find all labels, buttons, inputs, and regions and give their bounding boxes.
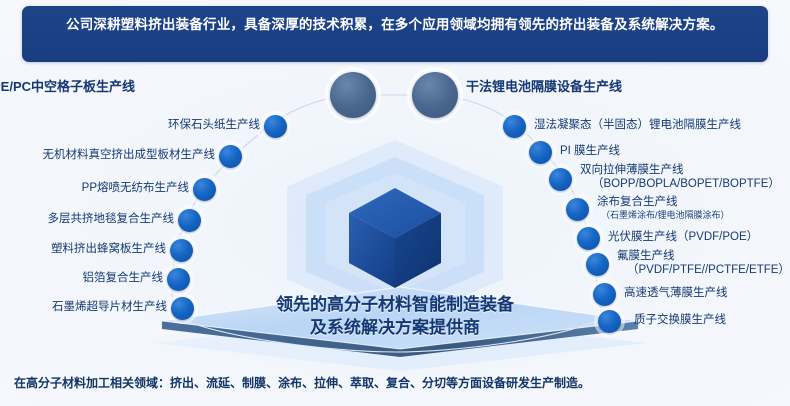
left-node-1[interactable] <box>219 145 242 168</box>
left-node-6[interactable] <box>171 297 194 320</box>
right-label-3: 涂布复合生产线 （石墨烯涂布/锂电池隔膜涂布） <box>597 196 790 221</box>
right-node-1[interactable] <box>529 141 552 164</box>
right-branch-heading: 干法锂电池隔膜设备生产线 <box>466 80 766 94</box>
right-label-1: PI 膜生产线 <box>560 145 790 159</box>
footer-text: 在高分子材料加工相关领域：挤出、流延、制膜、涂布、拉伸、萃取、复合、分切等方面设… <box>14 374 784 392</box>
right-label-6: 高速透气薄膜生产线 <box>624 287 790 301</box>
left-label-6: 石墨烯超导片材生产线 <box>0 301 167 315</box>
right-node-4[interactable] <box>577 227 600 250</box>
left-label-0: 环保石头纸生产线 <box>0 119 260 133</box>
left-node-3[interactable] <box>178 209 201 232</box>
right-node-6[interactable] <box>593 283 616 306</box>
center-title: 领先的高分子材料智能制造装备 及系统解决方案提供商 <box>195 293 595 339</box>
left-label-4: 塑料挤出蜂窝板生产线 <box>0 243 166 257</box>
center-title-line2: 及系统解决方案提供商 <box>310 318 480 337</box>
left-node-4[interactable] <box>170 239 193 262</box>
right-branch-hub-node[interactable] <box>412 72 458 118</box>
right-label-5: 氟膜生产线 （PVDF/PTFE//PCTFE/ETFE） <box>617 250 790 277</box>
left-label-5: 铝箔复合生产线 <box>0 272 163 286</box>
right-label-2-line2: （BOPP/BOPLA/BOPET/BOPTFE） <box>580 178 790 192</box>
left-label-1: 无机材料真空挤出成型板材生产线 <box>0 149 215 163</box>
right-label-3-line1: 涂布复合生产线 <box>597 196 678 208</box>
right-label-5-line1: 氟膜生产线 <box>617 250 675 262</box>
right-label-2: 双向拉伸薄膜生产线 （BOPP/BOPLA/BOPET/BOPTFE） <box>580 164 790 191</box>
left-branch-heading: PP/PE/PC中空格子板生产线 <box>0 80 135 94</box>
left-node-2[interactable] <box>193 178 216 201</box>
right-node-0[interactable] <box>503 115 526 138</box>
right-node-5[interactable] <box>586 253 609 276</box>
right-label-2-line1: 双向拉伸薄膜生产线 <box>580 164 684 176</box>
right-label-3-sub: （石墨烯涂布/锂电池隔膜涂布） <box>597 210 790 221</box>
left-branch-hub-node[interactable] <box>330 72 376 118</box>
right-label-7: 质子交换膜生产线 <box>634 314 790 328</box>
left-label-3: 多层共挤地毯复合生产线 <box>0 213 174 227</box>
right-label-5-line2: （PVDF/PTFE//PCTFE/ETFE） <box>617 264 790 278</box>
left-node-0[interactable] <box>264 115 287 138</box>
right-label-0: 湿法凝聚态（半固态）锂电池隔膜生产线 <box>534 119 790 133</box>
right-node-7[interactable] <box>598 310 621 333</box>
right-label-4: 光伏膜生产线（PVDF/POE） <box>608 231 790 245</box>
right-node-3[interactable] <box>566 198 589 221</box>
center-title-line1: 领先的高分子材料智能制造装备 <box>276 295 514 314</box>
right-node-2[interactable] <box>549 168 572 191</box>
left-node-5[interactable] <box>167 268 190 291</box>
left-label-2: PP熔喷无纺布生产线 <box>0 182 189 196</box>
infographic-canvas: 公司深耕塑料挤出装备行业，具备深厚的技术积累，在多个应用领域均拥有领先的挤出装备… <box>0 0 790 406</box>
